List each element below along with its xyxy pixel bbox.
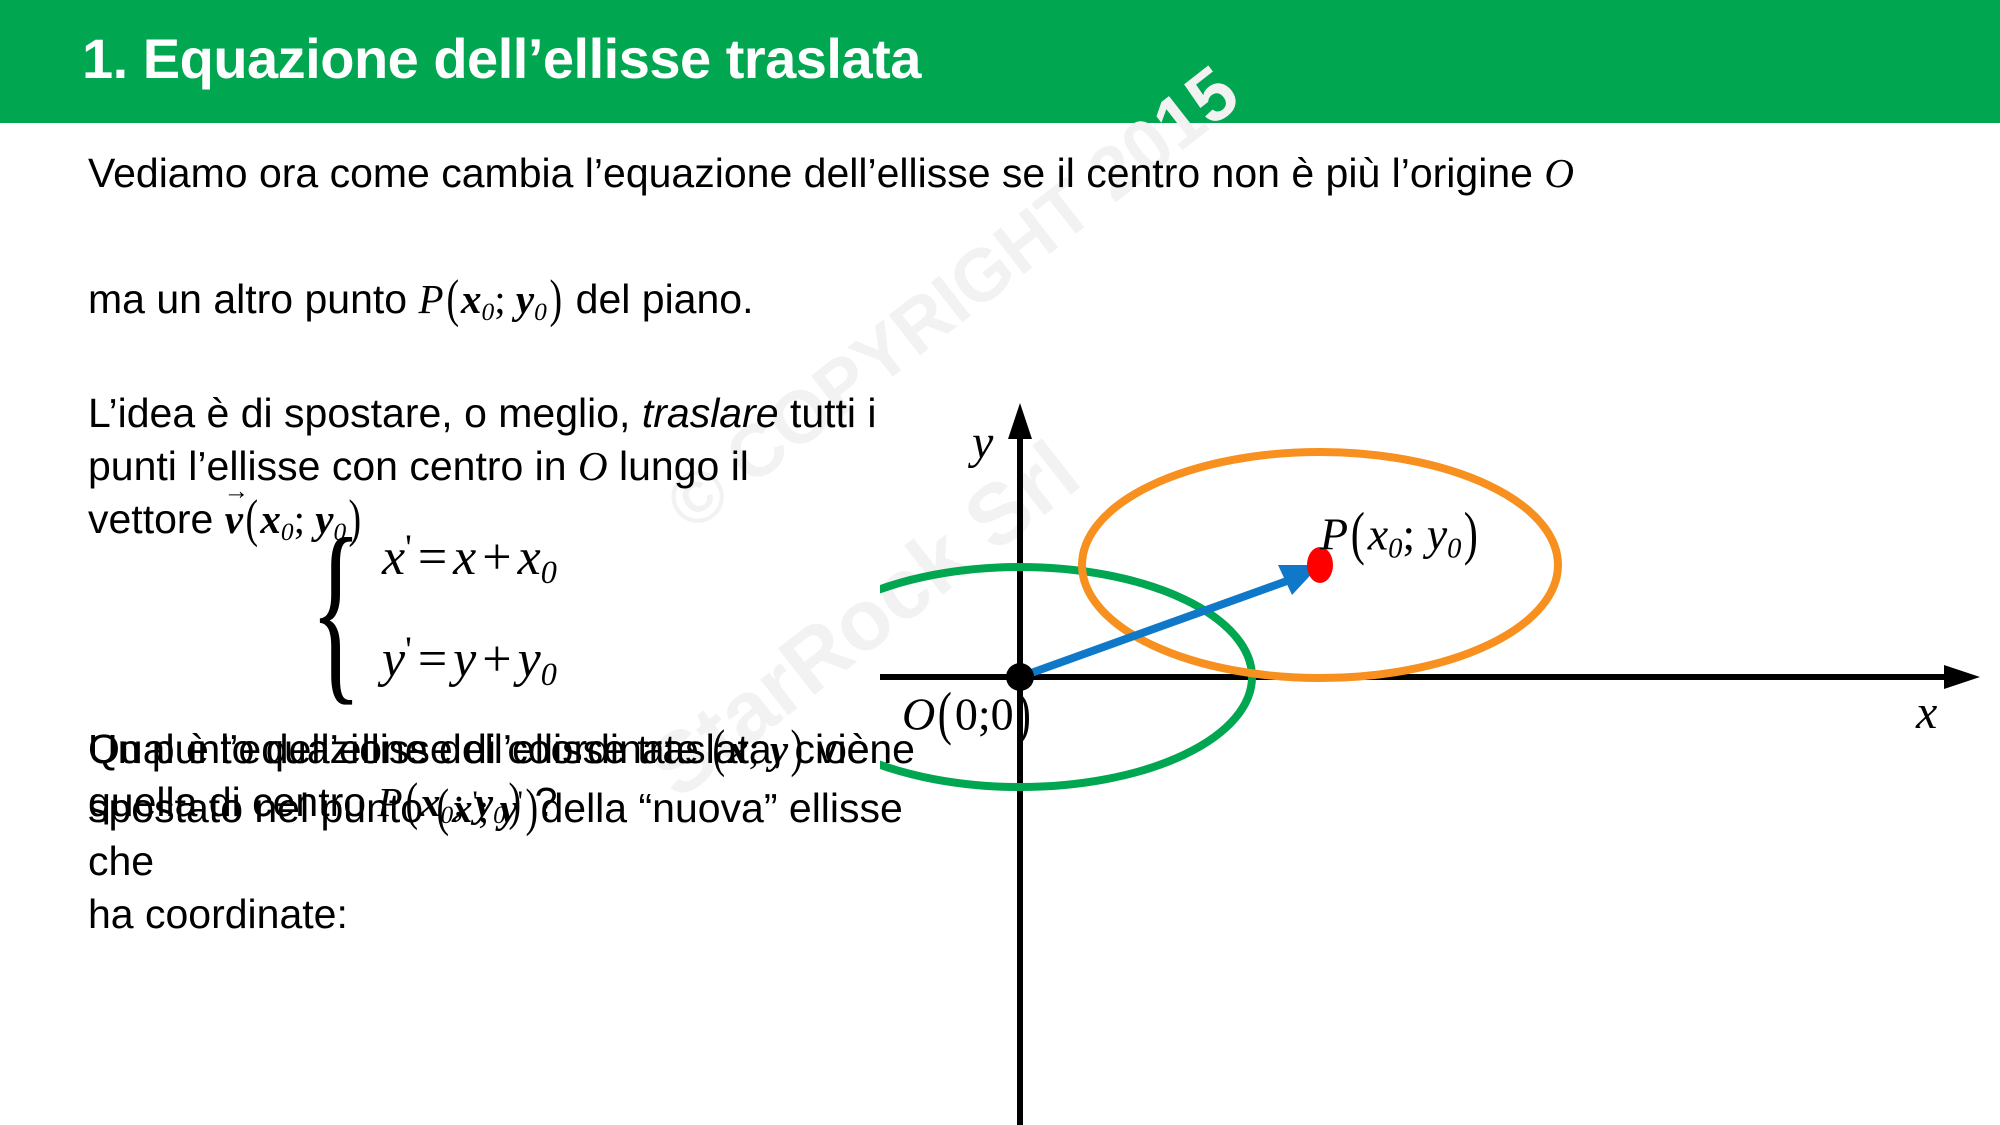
p3-x-sub: 0: [281, 518, 294, 546]
p1-origin-symbol: O: [1544, 150, 1574, 196]
p5-text-1: Qual è l’equazione dell’ellisse traslata…: [88, 726, 870, 772]
equation-system: { x'=x+x0 y'=y+y0: [300, 527, 557, 693]
header-bar: 1. Equazione dell’ellisse traslata: [0, 0, 2000, 123]
p5-right-paren: ): [508, 776, 521, 829]
p5-x-sub: 0: [441, 801, 454, 829]
eq1-equals: =: [412, 529, 453, 586]
eq2-rhs-2-sub: 0: [541, 656, 557, 692]
p3-text-1: L’idea è di spostare, o meglio,: [88, 390, 642, 436]
p3-emphasis-traslare: traslare: [642, 390, 779, 436]
eq1-lhs-prime: ': [405, 528, 412, 569]
p5-y: y: [475, 779, 493, 825]
eq1-rhs-1: x: [453, 529, 476, 586]
paragraph-intro: Vediamo ora come cambia l’equazione dell…: [88, 147, 1648, 200]
p5-left-paren: (: [405, 776, 418, 829]
system-equations: x'=x+x0 y'=y+y0: [382, 527, 557, 693]
equation-y-prime: y'=y+y0: [382, 629, 557, 693]
eq1-lhs: x: [382, 529, 405, 586]
p5-y-sub: 0: [493, 801, 506, 829]
p3-text-3: lungo il: [608, 443, 749, 489]
p2-P: P: [418, 276, 443, 322]
eq2-equals: =: [412, 631, 453, 688]
eq2-lhs-prime: ': [405, 630, 412, 671]
p5-text-3: ?: [523, 779, 557, 825]
p4-text-5: ha coordinate:: [88, 891, 348, 937]
eq2-plus: +: [476, 631, 517, 688]
p3-x: x: [260, 496, 281, 542]
p2-text-2: del piano.: [564, 276, 753, 322]
p3-left-paren: (: [245, 493, 258, 546]
paragraph-point: ma un altro punto P(x0; y0) del piano.: [88, 273, 1668, 339]
paragraph-question: Qual è l’equazione dell’ellisse traslata…: [88, 723, 988, 842]
eq2-rhs-1: y: [453, 631, 476, 688]
eq1-plus: +: [476, 529, 517, 586]
p5-text-2: quella di centro: [88, 779, 377, 825]
p2-text-1: ma un altro punto: [88, 276, 418, 322]
p3-text-4: vettore: [88, 496, 225, 542]
equation-x-prime: x'=x+x0: [382, 527, 557, 591]
system-brace: {: [310, 517, 362, 703]
eq2-rhs-2: y: [518, 631, 541, 688]
p5-P: P: [377, 779, 402, 825]
page-title: 1. Equazione dell’ellisse traslata: [82, 26, 921, 91]
p2-y: y: [516, 276, 534, 322]
p5-semicolon: ;: [453, 779, 475, 825]
p5-x: x: [420, 779, 441, 825]
slide-content: Vediamo ora come cambia l’equazione dell…: [0, 123, 2000, 1125]
p2-left-paren: (: [446, 273, 459, 326]
eq1-rhs-2: x: [518, 529, 541, 586]
p3-vector-v: →v: [225, 493, 243, 546]
p2-x-sub: 0: [482, 298, 495, 326]
eq1-rhs-2-sub: 0: [541, 554, 557, 590]
p2-right-paren: ): [549, 273, 562, 326]
p2-x: x: [461, 276, 482, 322]
p2-semicolon: ;: [494, 276, 516, 322]
p3-origin-symbol: O: [578, 443, 608, 489]
vector-arrow-icon: →: [224, 479, 242, 492]
p2-y-sub: 0: [534, 298, 547, 326]
p1-text: Vediamo ora come cambia l’equazione dell…: [88, 150, 1544, 196]
eq2-lhs: y: [382, 631, 405, 688]
